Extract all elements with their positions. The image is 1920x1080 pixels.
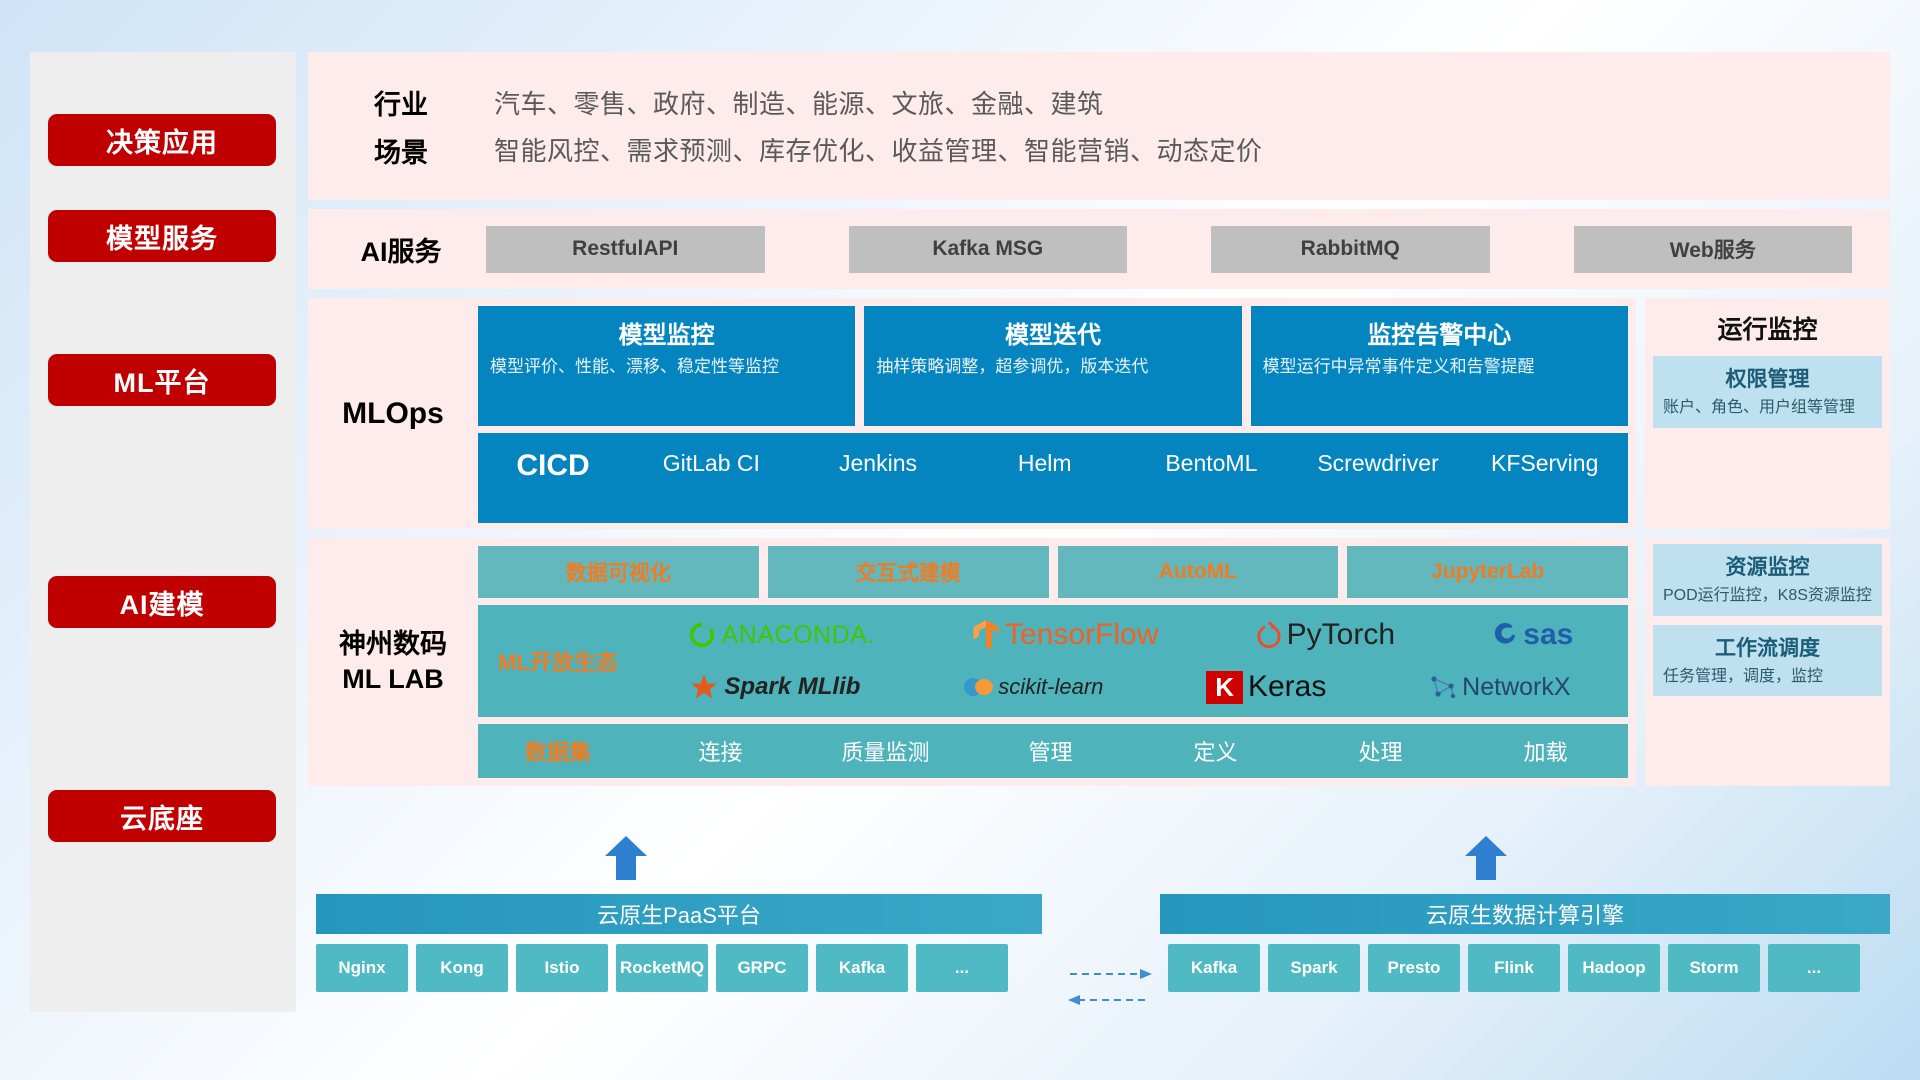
spark-mllib-logo: Spark MLlib <box>689 673 860 701</box>
paas-bar[interactable]: 云原生PaaS平台 <box>316 894 1042 934</box>
tensorflow-label: TensorFlow <box>1005 618 1158 652</box>
paas-chip-kong[interactable]: Kong <box>416 944 508 992</box>
engine-chip-hadoop[interactable]: Hadoop <box>1568 944 1660 992</box>
scikit-learn-icon <box>963 674 993 700</box>
rail-item-decision-app[interactable]: 决策应用 <box>48 114 276 166</box>
dataset-label: 数据集 <box>478 735 638 767</box>
card-desc: 模型评价、性能、漂移、稳定性等监控 <box>490 356 843 379</box>
mlops-card-model-monitoring[interactable]: 模型监控 模型评价、性能、漂移、稳定性等监控 <box>478 306 855 426</box>
modeling-label-line1: 神州数码 <box>339 629 447 659</box>
tab-data-visualization[interactable]: 数据可视化 <box>478 546 759 598</box>
engine-chip-flink[interactable]: Flink <box>1468 944 1560 992</box>
paas-chip-rocketmq[interactable]: RocketMQ <box>616 944 708 992</box>
application-band-values: 汽车、零售、政府、制造、能源、文旅、金融、建筑 智能风控、需求预测、库存优化、收… <box>486 74 1882 178</box>
card-desc: 任务管理，调度，监控 <box>1663 666 1872 688</box>
networkx-label: NetworkX <box>1462 673 1570 702</box>
ai-service-label: AI服务 <box>316 230 486 269</box>
engine-chip-presto[interactable]: Presto <box>1368 944 1460 992</box>
cicd-item-helm[interactable]: Helm <box>961 449 1128 478</box>
scenario-label: 场景 <box>316 131 486 170</box>
service-chip-rabbitmq[interactable]: RabbitMQ <box>1211 226 1490 273</box>
paas-chip-istio[interactable]: Istio <box>516 944 608 992</box>
dataset-strip: 数据集 连接 质量监测 管理 定义 处理 加载 <box>478 724 1628 778</box>
bidirectional-dashed-arrows <box>1068 966 1152 1010</box>
rail-item-ai-modeling[interactable]: AI建模 <box>48 576 276 628</box>
tab-automl[interactable]: AutoML <box>1058 546 1339 598</box>
modeling-stack: 数据可视化 交互式建模 AutoML JupyterLab ML开放生态 <box>478 538 1636 786</box>
engine-chip-more[interactable]: ... <box>1768 944 1860 992</box>
tab-jupyterlab[interactable]: JupyterLab <box>1347 546 1628 598</box>
paas-chip-kafka[interactable]: Kafka <box>816 944 908 992</box>
rail-item-cloud-base[interactable]: 云底座 <box>48 790 276 842</box>
mlops-card-alert-center[interactable]: 监控告警中心 模型运行中异常事件定义和告警提醒 <box>1251 306 1628 426</box>
mlops-stack: 模型监控 模型评价、性能、漂移、稳定性等监控 模型迭代 抽样策略调整，超参调优，… <box>478 298 1636 529</box>
ecosystem-strip: ML开放生态 ANACONDA. <box>478 605 1628 717</box>
sas-logo: sas <box>1492 618 1573 652</box>
engine-bar[interactable]: 云原生数据计算引擎 <box>1160 894 1890 934</box>
rail-item-ml-platform[interactable]: ML平台 <box>48 354 276 406</box>
card-title: 监控告警中心 <box>1263 315 1616 350</box>
cicd-item-kfserving[interactable]: KFServing <box>1461 449 1628 478</box>
mlops-band: MLOps 模型监控 模型评价、性能、漂移、稳定性等监控 模型迭代 抽样策略调整… <box>308 298 1890 529</box>
dataset-item-define[interactable]: 定义 <box>1133 735 1298 767</box>
layer-rail: 决策应用 模型服务 ML平台 AI建模 云底座 <box>30 52 296 1012</box>
card-title: 模型迭代 <box>876 315 1229 350</box>
networkx-icon <box>1429 674 1457 700</box>
modeling-left: 神州数码 ML LAB 数据可视化 交互式建模 AutoML JupyterLa… <box>308 538 1636 786</box>
dataset-item-manage[interactable]: 管理 <box>968 735 1133 767</box>
scenario-value: 智能风控、需求预测、库存优化、收益管理、智能营销、动态定价 <box>494 131 1882 168</box>
modeling-tab-list: 数据可视化 交互式建模 AutoML JupyterLab <box>478 546 1628 598</box>
mlops-card-list: 模型监控 模型评价、性能、漂移、稳定性等监控 模型迭代 抽样策略调整，超参调优，… <box>478 306 1628 426</box>
engine-chip-kafka[interactable]: Kafka <box>1168 944 1260 992</box>
networkx-logo: NetworkX <box>1429 673 1570 702</box>
engine-chip-spark[interactable]: Spark <box>1268 944 1360 992</box>
keras-label: Keras <box>1248 670 1326 704</box>
tab-interactive-modeling[interactable]: 交互式建模 <box>768 546 1049 598</box>
industry-label: 行业 <box>316 83 486 122</box>
card-title: 工作流调度 <box>1663 632 1872 662</box>
card-desc: 模型运行中异常事件定义和告警提醒 <box>1263 356 1616 379</box>
paas-chip-nginx[interactable]: Nginx <box>316 944 408 992</box>
dataset-item-load[interactable]: 加载 <box>1463 735 1628 767</box>
paas-chip-grpc[interactable]: GRPC <box>716 944 808 992</box>
monitor-panel: 运行监控 权限管理 账户、角色、用户组等管理 <box>1645 298 1890 529</box>
sas-label: sas <box>1523 618 1573 652</box>
ecosystem-logos: ANACONDA. TensorFlow <box>638 611 1628 711</box>
dataset-item-process[interactable]: 处理 <box>1298 735 1463 767</box>
dataset-item-quality[interactable]: 质量监测 <box>803 735 968 767</box>
anaconda-logo: ANACONDA. <box>687 620 875 650</box>
pytorch-icon <box>1256 620 1282 650</box>
card-desc: POD运行监控，K8S资源监控 <box>1663 585 1872 607</box>
card-title: 权限管理 <box>1663 363 1872 393</box>
service-chip-web[interactable]: Web服务 <box>1574 226 1853 273</box>
spark-icon <box>689 673 719 701</box>
pytorch-label: PyTorch <box>1287 618 1395 652</box>
logo-row-2: Spark MLlib scikit-learn <box>638 663 1622 711</box>
mlops-left: MLOps 模型监控 模型评价、性能、漂移、稳定性等监控 模型迭代 抽样策略调整… <box>308 298 1636 529</box>
diagram-root: 决策应用 模型服务 ML平台 AI建模 云底座 行业 场景 汽车、零售、政府、制… <box>0 0 1920 1080</box>
tensorflow-logo: TensorFlow <box>972 618 1158 652</box>
cicd-label: CICD <box>478 449 628 483</box>
monitor-card-workflow[interactable]: 工作流调度 任务管理，调度，监控 <box>1653 625 1882 697</box>
tensorflow-icon <box>972 619 1000 651</box>
dataset-item-connect[interactable]: 连接 <box>638 735 803 767</box>
keras-logo: K Keras <box>1206 670 1326 704</box>
modeling-band: 神州数码 ML LAB 数据可视化 交互式建模 AutoML JupyterLa… <box>308 538 1890 786</box>
engine-chip-list: Kafka Spark Presto Flink Hadoop Storm ..… <box>1168 944 1890 992</box>
spark-mllib-label: Spark MLlib <box>724 673 860 701</box>
application-band: 行业 场景 汽车、零售、政府、制造、能源、文旅、金融、建筑 智能风控、需求预测、… <box>308 52 1890 200</box>
sas-icon <box>1492 622 1518 648</box>
main-column: 行业 场景 汽车、零售、政府、制造、能源、文旅、金融、建筑 智能风控、需求预测、… <box>308 52 1890 786</box>
anaconda-label: ANACONDA. <box>722 621 875 650</box>
rail-item-model-service[interactable]: 模型服务 <box>48 210 276 262</box>
paas-chip-list: Nginx Kong Istio RocketMQ GRPC Kafka ... <box>316 944 1042 992</box>
scikit-learn-label: scikit-learn <box>998 674 1103 700</box>
cicd-item-jenkins[interactable]: Jenkins <box>795 449 962 478</box>
cicd-item-screwdriver[interactable]: Screwdriver <box>1295 449 1462 478</box>
application-band-labels: 行业 场景 <box>316 74 486 179</box>
arrow-up-engine-icon <box>1463 836 1509 880</box>
industry-value: 汽车、零售、政府、制造、能源、文旅、金融、建筑 <box>494 84 1882 121</box>
arrow-up-paas-icon <box>603 836 649 880</box>
cicd-item-gitlabci[interactable]: GitLab CI <box>628 449 795 478</box>
cicd-strip: CICD GitLab CI Jenkins Helm BentoML Scre… <box>478 433 1628 523</box>
ecosystem-label: ML开放生态 <box>478 645 638 677</box>
monitor-card-resource[interactable]: 资源监控 POD运行监控，K8S资源监控 <box>1653 544 1882 616</box>
monitor-card-permissions[interactable]: 权限管理 账户、角色、用户组等管理 <box>1653 356 1882 428</box>
pytorch-logo: PyTorch <box>1256 618 1395 652</box>
anaconda-icon <box>687 620 717 650</box>
card-title: 模型监控 <box>490 315 843 350</box>
scikit-learn-logo: scikit-learn <box>963 674 1103 700</box>
engine-chip-storm[interactable]: Storm <box>1668 944 1760 992</box>
card-desc: 抽样策略调整，超参调优，版本迭代 <box>876 356 1229 379</box>
monitor-panel-lower: 资源监控 POD运行监控，K8S资源监控 工作流调度 任务管理，调度，监控 <box>1645 538 1890 786</box>
modeling-label-line2: ML LAB <box>342 664 444 694</box>
mlops-label: MLOps <box>308 298 478 529</box>
cloud-band: 云原生PaaS平台 云原生数据计算引擎 Nginx Kong Istio Roc… <box>308 880 1890 1012</box>
card-title: 资源监控 <box>1663 551 1872 581</box>
modeling-label: 神州数码 ML LAB <box>308 538 478 786</box>
ai-service-band: AI服务 RestfulAPI Kafka MSG RabbitMQ Web服务 <box>308 209 1890 289</box>
cicd-item-bentoml[interactable]: BentoML <box>1128 449 1295 478</box>
mlops-card-model-iteration[interactable]: 模型迭代 抽样策略调整，超参调优，版本迭代 <box>864 306 1241 426</box>
service-chip-kafka-msg[interactable]: Kafka MSG <box>849 226 1128 273</box>
service-chip-restfulapi[interactable]: RestfulAPI <box>486 226 765 273</box>
keras-icon: K <box>1206 671 1243 704</box>
logo-row-1: ANACONDA. TensorFlow <box>638 611 1622 659</box>
paas-chip-more[interactable]: ... <box>916 944 1008 992</box>
monitor-panel-title: 运行监控 <box>1653 310 1882 346</box>
ai-service-chip-list: RestfulAPI Kafka MSG RabbitMQ Web服务 <box>486 226 1882 273</box>
card-desc: 账户、角色、用户组等管理 <box>1663 397 1872 419</box>
